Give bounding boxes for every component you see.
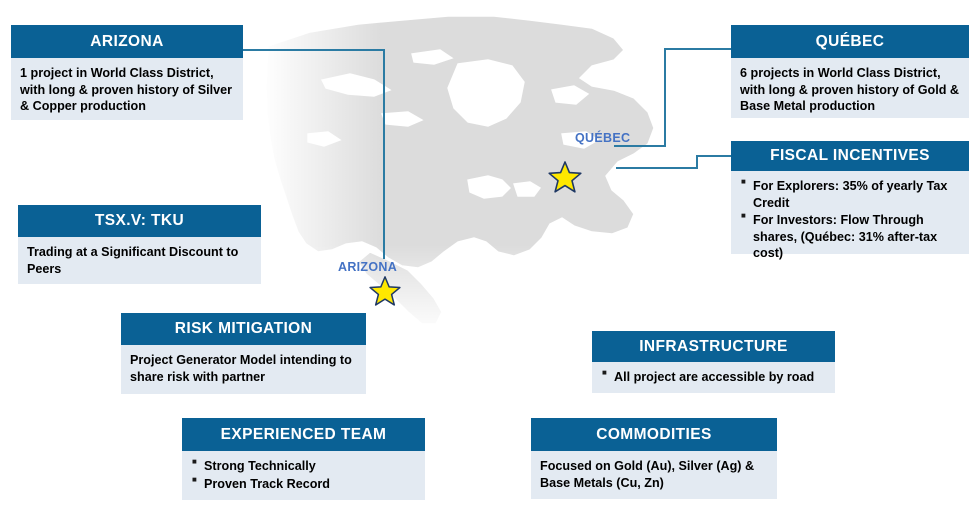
- card-experienced-team[interactable]: EXPERIENCED TEAM Strong Technically Prov…: [182, 418, 425, 500]
- card-infrastructure-title: INFRASTRUCTURE: [592, 331, 835, 362]
- quebec-star-marker: [548, 160, 582, 194]
- card-experienced-team-body: Strong Technically Proven Track Record: [182, 451, 425, 500]
- list-item: For Explorers: 35% of yearly Tax Credit: [740, 178, 960, 211]
- card-risk-mitigation[interactable]: RISK MITIGATION Project Generator Model …: [121, 313, 366, 394]
- fiscal-incentives-list: For Explorers: 35% of yearly Tax Credit …: [740, 178, 960, 262]
- card-arizona[interactable]: ARIZONA 1 project in World Class Distric…: [11, 25, 243, 120]
- card-commodities-body: Focused on Gold (Au), Silver (Ag) & Base…: [531, 451, 777, 499]
- card-tsxv-tku[interactable]: TSX.V: TKU Trading at a Significant Disc…: [18, 205, 261, 284]
- connector-fiscal-horizontal-left: [616, 167, 698, 169]
- experienced-team-list: Strong Technically Proven Track Record: [191, 458, 416, 492]
- card-tsxv-tku-title: TSX.V: TKU: [18, 205, 261, 237]
- connector-arizona-horizontal: [240, 49, 385, 51]
- card-commodities-title: COMMODITIES: [531, 418, 777, 451]
- card-quebec-title: QUÉBEC: [731, 25, 969, 58]
- map-label-quebec: QUÉBEC: [575, 131, 630, 145]
- card-tsxv-tku-body: Trading at a Significant Discount to Pee…: [18, 237, 261, 284]
- card-fiscal-incentives[interactable]: FISCAL INCENTIVES For Explorers: 35% of …: [731, 141, 969, 254]
- card-arizona-body: 1 project in World Class District, with …: [11, 58, 243, 120]
- infrastructure-list: All project are accessible by road: [601, 369, 826, 386]
- arizona-star-marker: [369, 275, 401, 307]
- card-risk-mitigation-body: Project Generator Model intending to sha…: [121, 345, 366, 394]
- card-quebec-lead: 6 projects: [740, 66, 800, 80]
- list-item: For Investors: Flow Through shares, (Qué…: [740, 212, 960, 262]
- card-infrastructure-body: All project are accessible by road: [592, 362, 835, 393]
- card-infrastructure[interactable]: INFRASTRUCTURE All project are accessibl…: [592, 331, 835, 393]
- card-arizona-title: ARIZONA: [11, 25, 243, 58]
- card-commodities[interactable]: COMMODITIES Focused on Gold (Au), Silver…: [531, 418, 777, 499]
- card-arizona-lead: 1 project: [20, 66, 73, 80]
- card-risk-mitigation-title: RISK MITIGATION: [121, 313, 366, 345]
- connector-quebec-horizontal-top: [664, 48, 732, 50]
- card-fiscal-incentives-body: For Explorers: 35% of yearly Tax Credit …: [731, 171, 969, 254]
- card-quebec-body: 6 projects in World Class District, with…: [731, 58, 969, 118]
- card-fiscal-incentives-title: FISCAL INCENTIVES: [731, 141, 969, 171]
- connector-fiscal-horizontal-right: [696, 155, 734, 157]
- map-label-arizona: ARIZONA: [338, 260, 397, 274]
- card-experienced-team-title: EXPERIENCED TEAM: [182, 418, 425, 451]
- list-item: Strong Technically: [191, 458, 416, 475]
- connector-quebec-horizontal-bottom: [614, 145, 666, 147]
- connector-arizona-vertical: [383, 49, 385, 259]
- list-item: All project are accessible by road: [601, 369, 826, 386]
- card-quebec[interactable]: QUÉBEC 6 projects in World Class Distric…: [731, 25, 969, 118]
- connector-quebec-vertical: [664, 48, 666, 146]
- slide-canvas: QUÉBEC ARIZONA ARIZONA 1 project in Worl…: [0, 0, 980, 513]
- list-item: Proven Track Record: [191, 476, 416, 493]
